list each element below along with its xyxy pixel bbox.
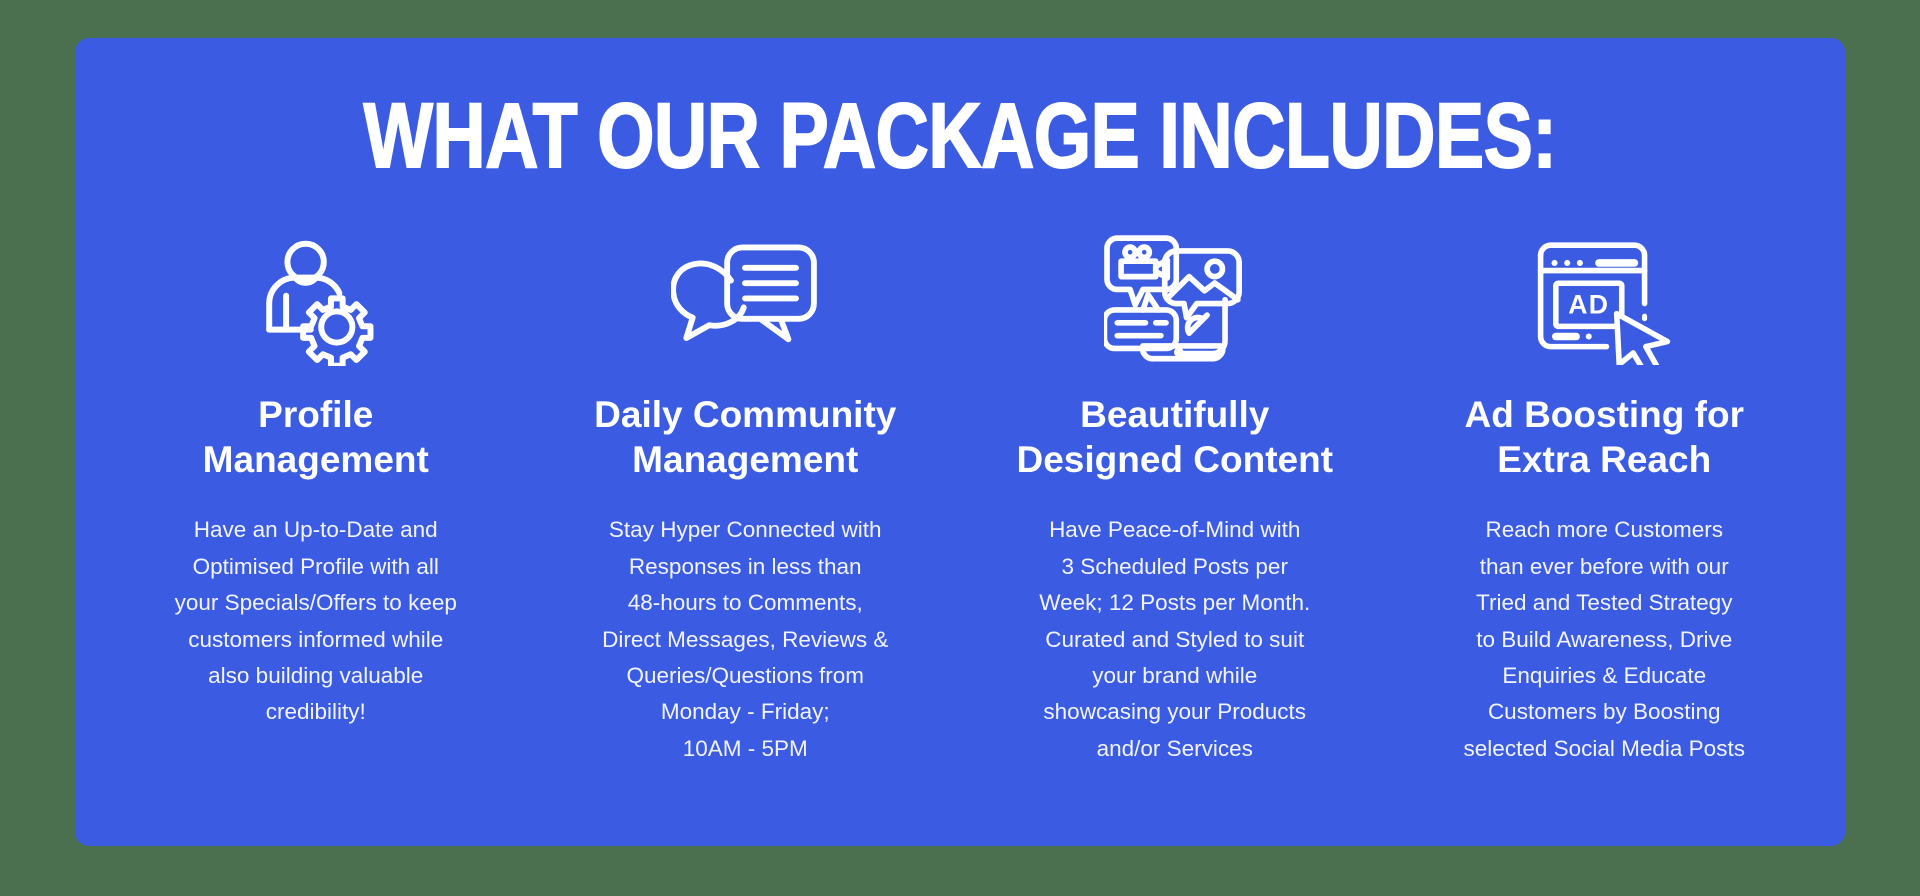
feature-body: Reach more Customers than ever before wi… — [1464, 512, 1745, 767]
feature-body: Have an Up-to-Date and Optimised Profile… — [175, 512, 457, 731]
person-gear-icon — [251, 226, 381, 376]
feature-column-designed-content: Beautifully Designed Content Have Peace-… — [960, 226, 1390, 767]
feature-body: Stay Hyper Connected with Responses in l… — [602, 512, 888, 767]
feature-column-daily-community-management: Daily Community Management Stay Hyper Co… — [531, 226, 961, 767]
page-stage: WHAT OUR PACKAGE INCLUDES: Profile Manag — [0, 0, 1920, 896]
ad-browser-cursor-icon: AD — [1533, 226, 1675, 376]
feature-column-ad-boosting: AD Ad Boosting for Extra Reach Reach mor… — [1390, 226, 1820, 767]
feature-title: Daily Community Management — [594, 392, 896, 482]
feature-columns: Profile Management Have an Up-to-Date an… — [75, 226, 1845, 767]
chat-bubbles-icon — [671, 226, 819, 376]
feature-column-profile-management: Profile Management Have an Up-to-Date an… — [101, 226, 531, 767]
feature-body: Have Peace-of-Mind with 3 Scheduled Post… — [1039, 512, 1310, 767]
feature-title: Beautifully Designed Content — [1016, 392, 1333, 482]
page-title: WHAT OUR PACKAGE INCLUDES: — [252, 90, 1668, 182]
package-card: WHAT OUR PACKAGE INCLUDES: Profile Manag — [75, 38, 1845, 846]
feature-title: Ad Boosting for Extra Reach — [1464, 392, 1744, 482]
feature-title: Profile Management — [203, 392, 429, 482]
svg-text:AD: AD — [1569, 290, 1610, 320]
content-creation-icon — [1104, 226, 1246, 376]
